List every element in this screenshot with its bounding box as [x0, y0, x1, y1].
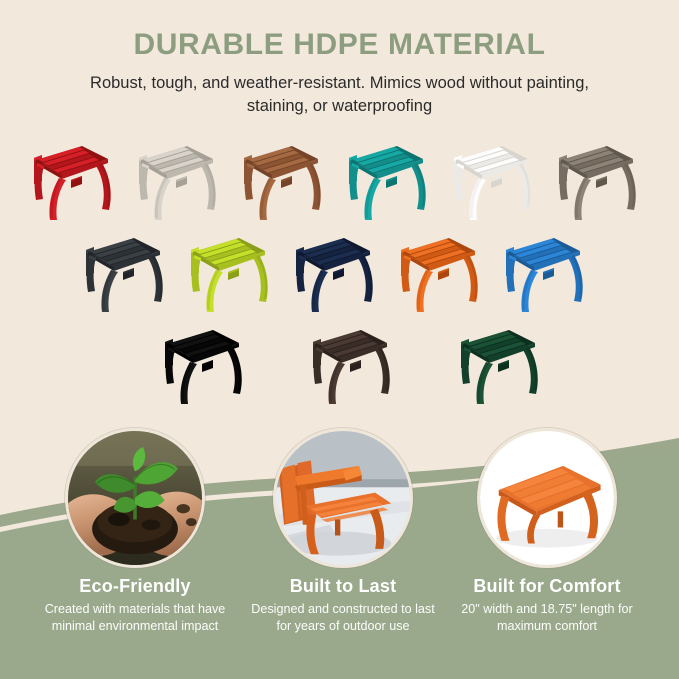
ottoman-swatch-taupe[interactable] [549, 136, 659, 228]
ottoman-swatch-dark-brown[interactable] [303, 320, 413, 412]
ottoman-swatch-dark-green[interactable] [451, 320, 561, 412]
feature-image-built-for-comfort [477, 428, 617, 568]
feature-title: Built to Last [243, 577, 443, 597]
ottoman-swatch-brown[interactable] [234, 136, 344, 228]
infographic-canvas: DURABLE HDPE MATERIAL Robust, tough, and… [0, 0, 679, 679]
ottoman-swatch-navy[interactable] [286, 228, 396, 320]
feature-built-to-last: Built to Last Designed and constructed t… [243, 428, 443, 634]
feature-description: Created with materials that have minimal… [35, 601, 235, 634]
feature-description: 20" width and 18.75" length for maximum … [447, 601, 647, 634]
feature-description: Designed and constructed to last for yea… [243, 601, 443, 634]
ottoman-swatch-dark-gray[interactable] [76, 228, 186, 320]
feature-image-built-to-last [273, 428, 413, 568]
feature-built-for-comfort: Built for Comfort 20" width and 18.75" l… [447, 428, 647, 634]
header: DURABLE HDPE MATERIAL Robust, tough, and… [0, 0, 679, 119]
ottoman-swatch-light-gray[interactable] [129, 136, 239, 228]
ottoman-swatch-orange[interactable] [391, 228, 501, 320]
ottoman-swatch-black[interactable] [155, 320, 265, 412]
ottoman-swatch-white[interactable] [444, 136, 554, 228]
ottoman-swatch-lime[interactable] [181, 228, 291, 320]
feature-title: Eco-Friendly [35, 577, 235, 597]
feature-image-eco-friendly [65, 428, 205, 568]
ottoman-swatch-red[interactable] [24, 136, 134, 228]
feature-title: Built for Comfort [447, 577, 647, 597]
feature-eco-friendly: Eco-Friendly Created with materials that… [35, 428, 235, 634]
ottoman-swatch-blue[interactable] [496, 228, 606, 320]
ottoman-swatch-teal[interactable] [339, 136, 449, 228]
color-swatch-grid [0, 136, 679, 416]
page-title: DURABLE HDPE MATERIAL [0, 0, 679, 61]
page-subtitle: Robust, tough, and weather-resistant. Mi… [90, 72, 590, 119]
